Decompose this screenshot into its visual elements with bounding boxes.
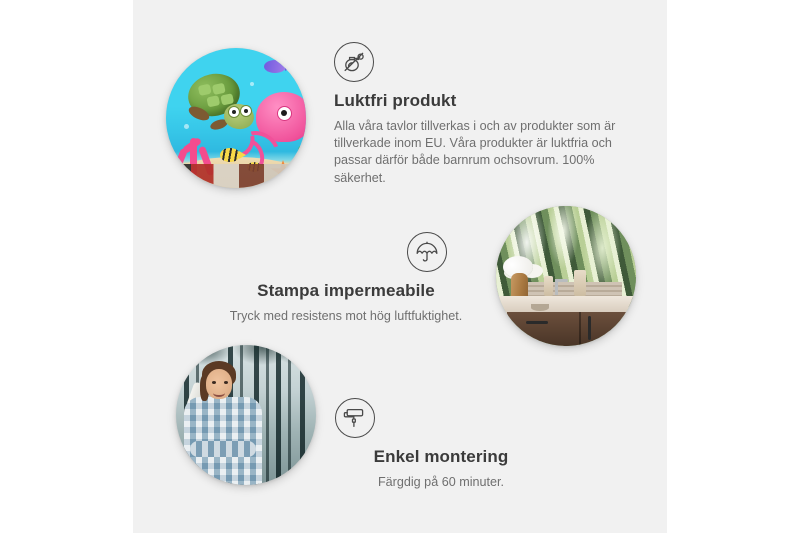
feature-icon-wrap <box>221 232 471 272</box>
wood-vanity-cabinet <box>507 312 636 346</box>
feature-icon-wrap <box>316 398 566 438</box>
soap-dish <box>531 304 549 311</box>
eye <box>212 381 216 384</box>
eye <box>224 381 228 384</box>
feature-title: Enkel montering <box>316 447 566 467</box>
folded-arms <box>190 441 256 457</box>
lower-photo-strip <box>166 164 306 188</box>
smile <box>213 389 225 397</box>
photo-disc-forest-mural <box>176 345 316 485</box>
photo-disc-bathroom-mural <box>496 206 636 346</box>
feature-easy-mounting: Enkel montering Färgdig på 60 minuter. <box>316 398 566 491</box>
cabinet-handle <box>588 316 591 340</box>
feature-icon-wrap <box>334 42 622 82</box>
feature-waterproof-print: Stampa impermeabile Tryck med resistens … <box>221 232 471 325</box>
faucet <box>555 279 558 295</box>
tropical-fish <box>220 148 240 162</box>
feature-description: Alla våra tavlor tillverkas i och av pro… <box>334 118 622 187</box>
bubble-icon <box>250 82 254 86</box>
bottle <box>544 276 553 296</box>
feature-description: Tryck med resistens mot hög luftfuktighe… <box>221 308 471 325</box>
turtle-eye <box>228 106 240 118</box>
umbrella-icon <box>407 232 447 272</box>
feature-odor-free: Luktfri produkt Alla våra tavlor tillver… <box>334 42 622 187</box>
ocean-scene <box>166 48 306 188</box>
bubble-icon <box>184 124 189 129</box>
bottle <box>574 270 586 296</box>
marble-countertop <box>496 296 636 314</box>
feature-description: Färgdig på 60 minuter. <box>316 474 566 491</box>
feature-title: Luktfri produkt <box>334 91 622 111</box>
bathroom-scene <box>496 206 636 346</box>
feature-title: Stampa impermeabile <box>221 281 471 301</box>
infographic-root: Luktfri produkt Alla våra tavlor tillver… <box>0 0 800 533</box>
drawer-handle <box>526 321 548 324</box>
no-odor-perfume-bottle-icon <box>334 42 374 82</box>
photo-disc-ocean-mural <box>166 48 306 188</box>
octopus-eye <box>277 106 292 121</box>
paint-roller-icon <box>335 398 375 438</box>
tropical-fish <box>264 60 286 73</box>
forest-scene <box>176 345 316 485</box>
turtle-eye <box>240 105 252 117</box>
